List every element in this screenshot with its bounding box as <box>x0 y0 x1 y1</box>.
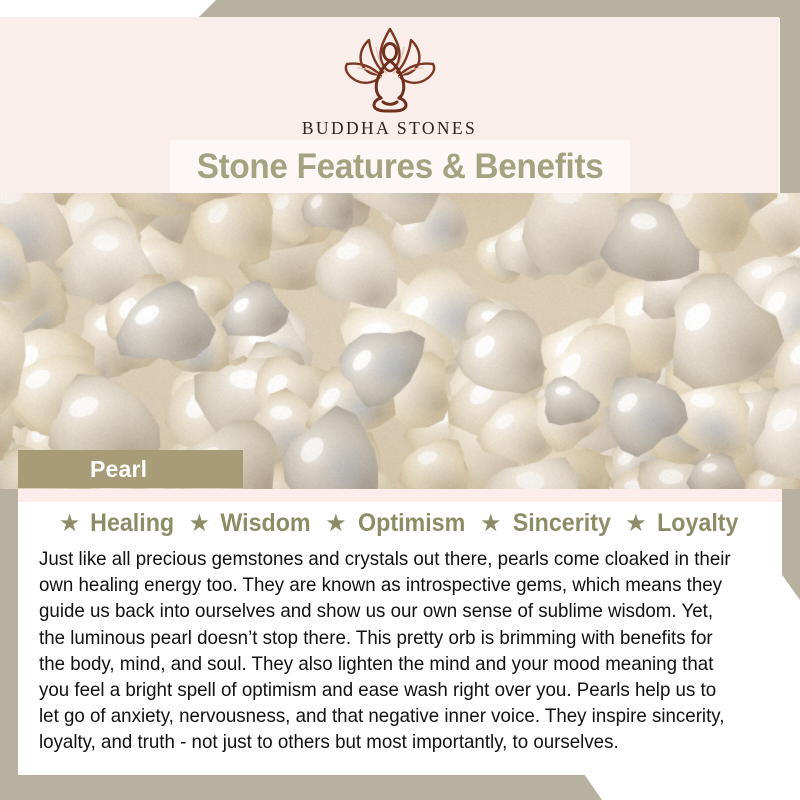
keyword-item: ★Wisdom <box>189 509 315 538</box>
keyword-list: ★Healing★Wisdom★Optimism★Sincerity★Loyal… <box>18 509 782 538</box>
keyword-label: Wisdom <box>221 509 311 538</box>
keyword-label: Healing <box>91 509 175 538</box>
poster-root: BUDDHA STONES Stone Features & Benefits … <box>0 0 800 800</box>
page-title: Stone Features & Benefits <box>197 147 604 187</box>
title-banner: Stone Features & Benefits <box>170 140 630 193</box>
panel-top-strip <box>18 489 782 502</box>
keyword-label: Loyalty <box>657 509 738 538</box>
brand-logo: BUDDHA STONES <box>0 23 779 139</box>
star-icon: ★ <box>625 512 647 536</box>
star-icon: ★ <box>325 512 347 536</box>
keyword-item: ★Optimism <box>325 509 469 538</box>
keyword-label: Sincerity <box>512 509 610 538</box>
content-panel: ★Healing★Wisdom★Optimism★Sincerity★Loyal… <box>18 489 782 775</box>
keyword-item: ★Healing <box>59 509 178 538</box>
star-icon: ★ <box>189 512 211 536</box>
lotus-meditation-icon <box>331 23 449 115</box>
keyword-item: ★Loyalty <box>625 509 741 538</box>
stone-photo <box>0 193 800 489</box>
frame-top-accent <box>0 0 800 18</box>
stone-name-label: Pearl <box>90 456 147 483</box>
keyword-label: Optimism <box>358 509 465 538</box>
stone-name-band: Pearl <box>18 450 243 488</box>
body-paragraph: Just like all precious gemstones and cry… <box>39 546 740 756</box>
keyword-item: ★Sincerity <box>480 509 614 538</box>
brand-name: BUDDHA STONES <box>302 118 477 139</box>
pearl-photo-canvas <box>0 193 800 489</box>
star-icon: ★ <box>480 512 502 536</box>
star-icon: ★ <box>59 512 81 536</box>
frame-bottom-accent <box>0 774 800 800</box>
